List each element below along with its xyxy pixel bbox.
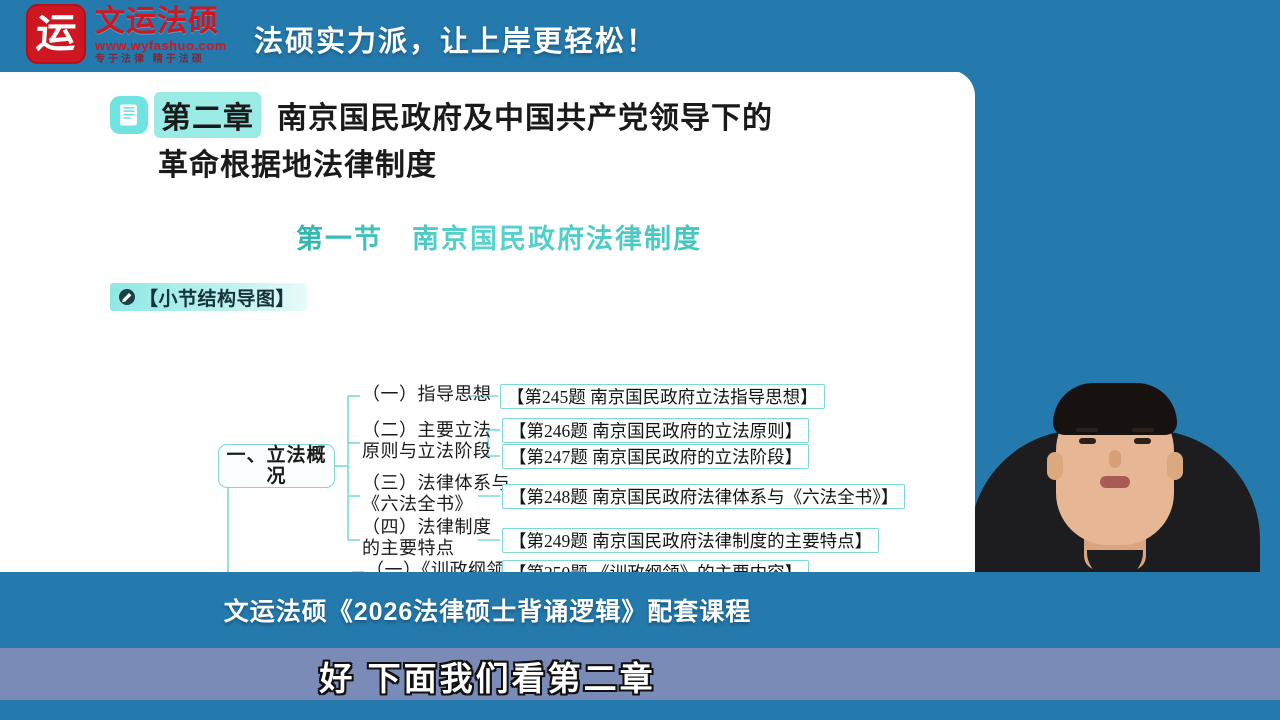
page-header: 运 文运法硕 www.wyfashuo.com 专于法律 精于法硕 法硕实力派，… <box>0 0 1280 72</box>
question-box-245[interactable]: 【第245题 南京国民政府立法指导思想】 <box>500 384 825 409</box>
slide-panel: 第二章 南京国民政府及中国共产党领导下的 革命根据地法律制度 第一节 南京国民政… <box>0 70 975 575</box>
presenter-brow-right <box>1132 428 1154 432</box>
question-box-247[interactable]: 【第247题 南京国民政府的立法阶段】 <box>502 444 809 469</box>
presenter-nose <box>1109 450 1121 468</box>
presenter-brow-left <box>1076 428 1098 432</box>
brand-logo: 运 文运法硕 www.wyfashuo.com 专于法律 精于法硕 <box>26 4 227 66</box>
mindmap-leaf-1-4[interactable]: （四）法律制度 的主要特点 <box>362 517 492 559</box>
mindmap: 南京国民 政府法律 一、立法概况 二、宪法性 文件与宪法 （一）指导思想 （二）… <box>0 318 975 575</box>
presenter-ear-left <box>1047 452 1063 480</box>
presenter-hair <box>1053 383 1177 435</box>
chapter-heading: 第二章 南京国民政府及中国共产党领导下的 <box>110 92 773 138</box>
header-slogan: 法硕实力派，让上岸更轻松！ <box>254 18 657 60</box>
course-title: 文运法硕《2026法律硕士背诵逻辑》配套课程 <box>0 592 975 628</box>
mindmap-leaf-1-3[interactable]: （三）法律体系与 《六法全书》 <box>362 473 510 515</box>
logo-title: 文运法硕 <box>95 6 227 38</box>
section-title: 第一节 南京国民政府法律制度 <box>296 217 702 256</box>
mindmap-branch-1-label: 一、立法概况 <box>219 445 334 488</box>
pencil-icon <box>118 288 136 306</box>
presenter-mouth <box>1100 476 1130 488</box>
mindmap-tag-label: 【小节结构导图】 <box>139 284 295 311</box>
mindmap-leaf-1-1[interactable]: （一）指导思想 <box>362 384 492 405</box>
question-box-248[interactable]: 【第248题 南京国民政府法律体系与《六法全书》】 <box>502 484 905 509</box>
chapter-title-line2: 革命根据地法律制度 <box>158 140 437 184</box>
logo-url: www.wyfashuo.com <box>95 39 227 53</box>
logo-mark-icon: 运 <box>26 4 86 64</box>
mindmap-section-tag: 【小节结构导图】 <box>110 283 307 311</box>
subtitle-caption: 好 下面我们看第二章 <box>0 652 975 700</box>
presenter-eye-right <box>1134 438 1151 444</box>
presenter-eye-left <box>1079 438 1096 444</box>
logo-mark-char: 运 <box>35 14 78 54</box>
chapter-label: 第二章 <box>154 92 261 138</box>
question-box-246[interactable]: 【第246题 南京国民政府的立法原则】 <box>502 418 809 443</box>
logo-subtitle: 专于法律 精于法硕 <box>95 54 227 66</box>
chapter-title: 南京国民政府及中国共产党领导下的 <box>277 93 773 137</box>
presenter-ear-right <box>1167 452 1183 480</box>
footer-bar <box>0 700 1280 720</box>
mindmap-leaf-1-2[interactable]: （二）主要立法 原则与立法阶段 <box>362 420 492 462</box>
question-box-249[interactable]: 【第249题 南京国民政府法律制度的主要特点】 <box>502 528 879 553</box>
mindmap-branch-1[interactable]: 一、立法概况 <box>218 444 335 488</box>
logo-text-block: 文运法硕 www.wyfashuo.com 专于法律 精于法硕 <box>95 4 227 66</box>
book-icon <box>110 96 148 134</box>
